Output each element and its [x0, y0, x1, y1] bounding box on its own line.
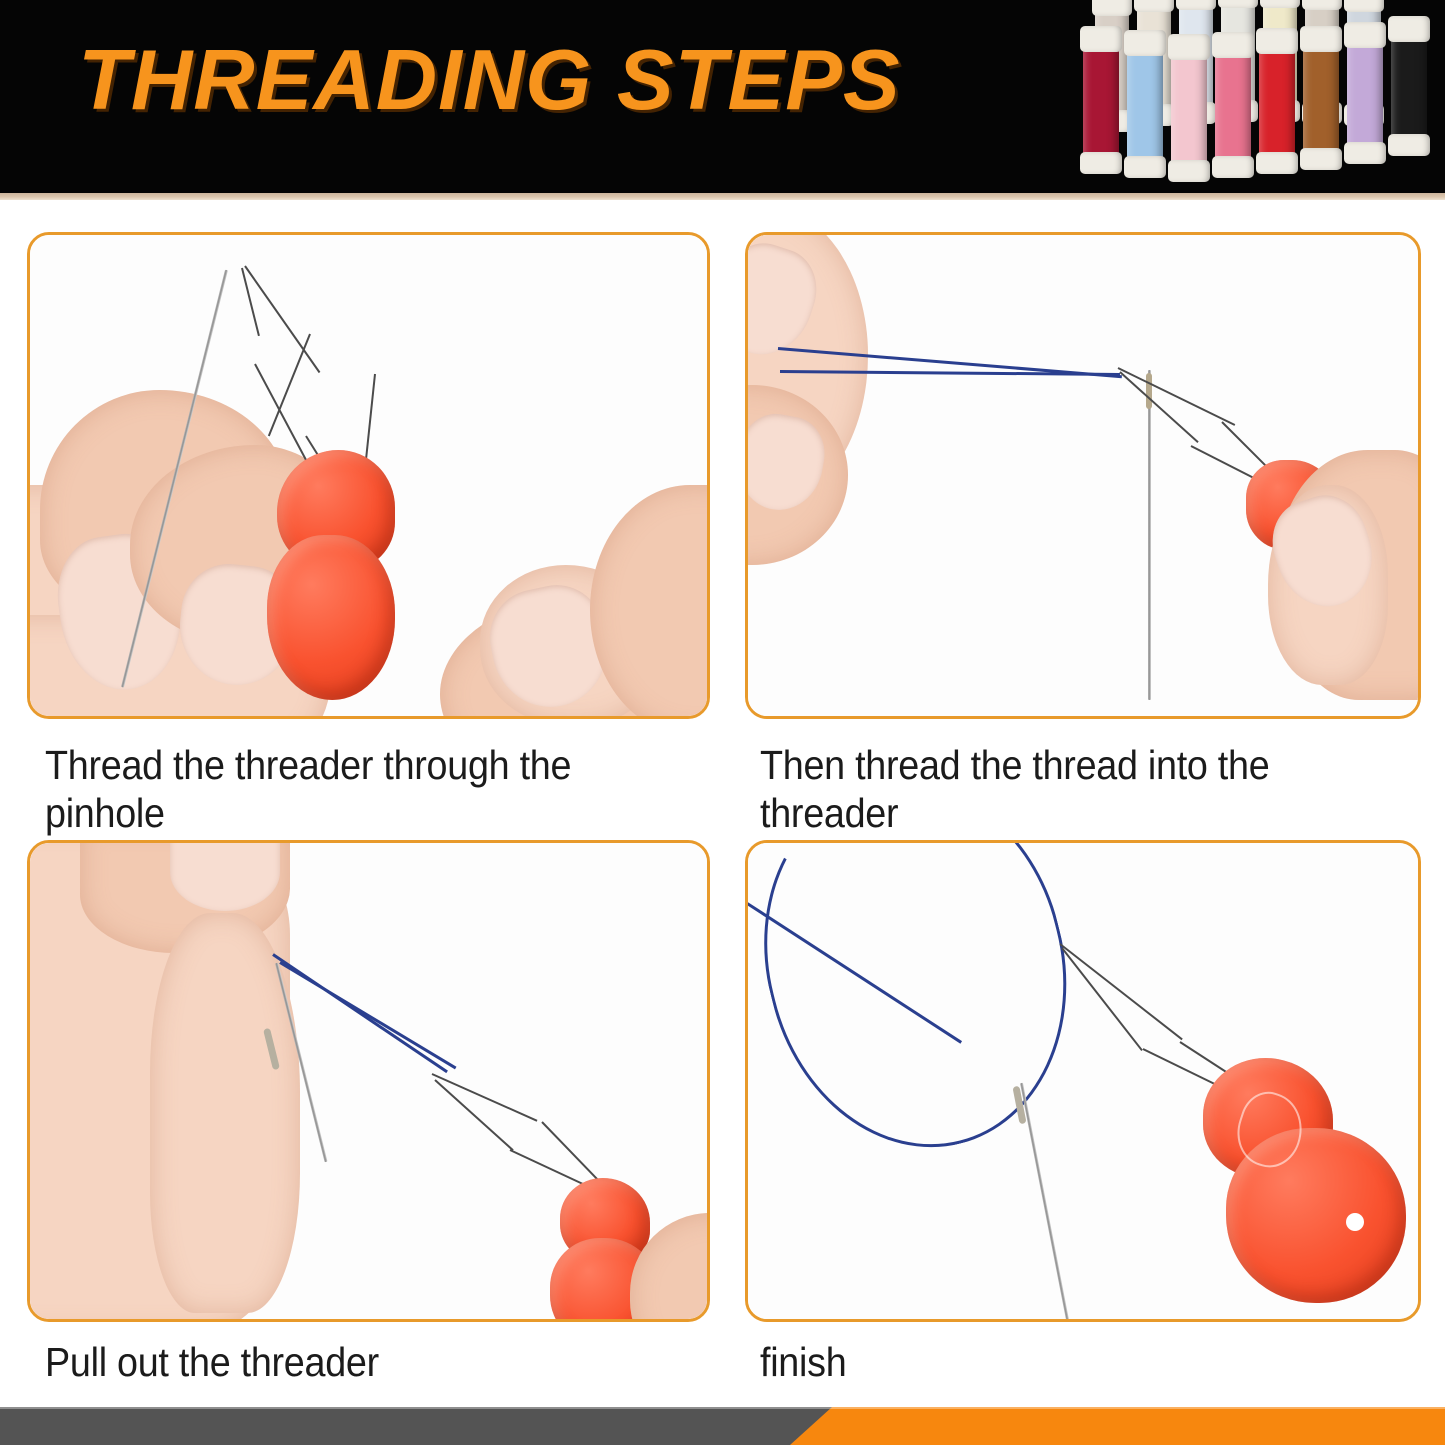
page-title: THREADING STEPS — [78, 36, 901, 125]
threading-step-4-photo — [748, 843, 1418, 1319]
step-caption-3: Pull out the threader — [45, 1339, 634, 1387]
step-caption-4: finish — [760, 1339, 1367, 1387]
step-panel-2 — [745, 232, 1421, 719]
header-banner: THREADING STEPS — [0, 0, 1445, 193]
footer-bar — [0, 1407, 1445, 1445]
step-caption-1: Thread the threader through the pinhole — [45, 742, 634, 837]
step-caption-2: Then thread the thread into the threader — [760, 742, 1367, 837]
thread-spools-photo — [1065, 0, 1425, 192]
threading-step-2-photo — [748, 235, 1418, 716]
infographic-page: THREADING STEPS — [0, 0, 1445, 1445]
footer-gray-block — [0, 1407, 900, 1445]
step-panel-3 — [27, 840, 710, 1322]
threading-step-1-photo — [30, 235, 707, 716]
step-panel-4 — [745, 840, 1421, 1322]
threading-step-3-photo — [30, 843, 707, 1319]
header-accent-strip — [0, 193, 1445, 200]
footer-hairline — [0, 1407, 1445, 1409]
step-panel-1 — [27, 232, 710, 719]
